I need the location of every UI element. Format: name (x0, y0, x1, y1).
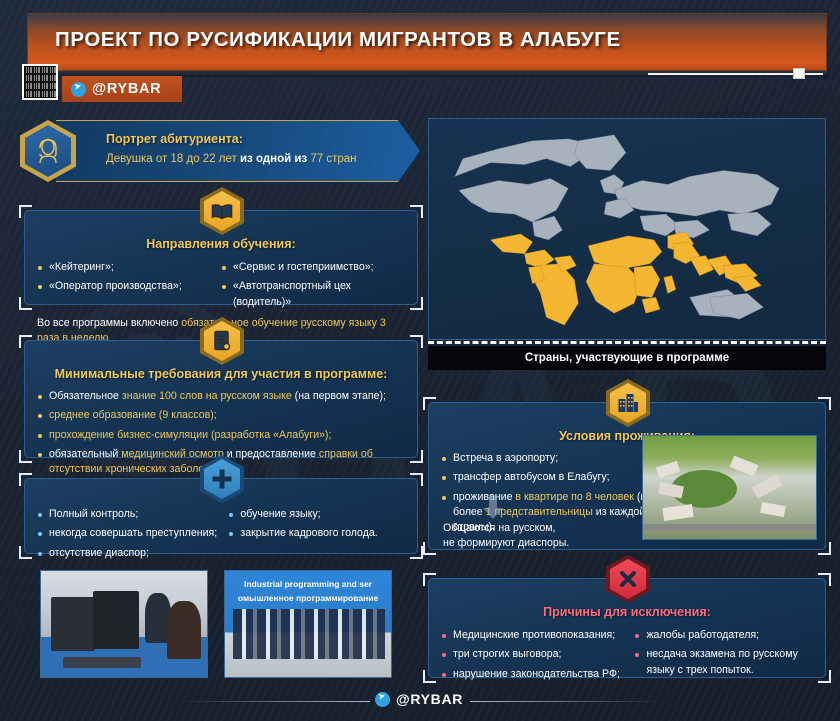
footer-brand[interactable]: @RYBAR (375, 691, 463, 707)
list-item: среднее образование (9 классов); (37, 408, 405, 423)
portrait-title: Портрет абитуриента: (106, 132, 416, 146)
brand-bar[interactable]: @RYBAR (62, 76, 182, 102)
list-item: «Автотранспортный цех (водитель)» (221, 279, 405, 310)
graduates-group-photo: Industrial programming and ser омышленно… (224, 570, 392, 678)
portrait-text: Портрет абитуриента: Девушка от 18 до 22… (106, 132, 416, 167)
requirements-title: Минимальные требования для участия в про… (25, 367, 417, 381)
qr-code-icon (22, 64, 58, 100)
requirements-panel: Минимальные требования для участия в про… (24, 340, 418, 458)
list-item: Медицинские противопоказания; (441, 628, 634, 643)
telegram-icon (71, 82, 86, 97)
open-book-icon (200, 187, 244, 235)
list-item: обучение языку; (228, 507, 405, 522)
map-divider (428, 341, 826, 344)
buildings-icon (606, 379, 650, 427)
list-item: Встреча в аэропорту; (441, 451, 667, 466)
living-footnote: Общаются на русском, не формируют диаспо… (443, 521, 569, 552)
list-item: жалобы работодателя; (634, 628, 813, 643)
list-item: три строгих выговора; (441, 647, 634, 662)
portrait-block: Портрет абитуриента: Девушка от 18 до 22… (20, 120, 420, 182)
list-item: «Кейтеринг»; (37, 260, 221, 275)
control-panel: Полный контроль; некогда совершать прест… (24, 478, 418, 554)
map-svg (429, 119, 825, 339)
red-cross-icon (606, 555, 650, 603)
infographic-root: @ BAR ПРОЕКТ ПО РУСИФИКАЦИИ МИГРАНТОВ В … (0, 0, 840, 721)
list-item: Обязательное знание 100 слов на русском … (37, 389, 405, 404)
page-title: ПРОЕКТ ПО РУСИФИКАЦИИ МИГРАНТОВ В АЛАБУГ… (55, 28, 621, 52)
list-item: прохождение бизнес-симуляции (разработка… (37, 428, 405, 443)
control-list-left: Полный контроль; некогда совершать прест… (37, 507, 228, 565)
list-item: нарушение законодательства РФ; (441, 667, 634, 682)
down-arrow-icon (481, 495, 505, 524)
list-item: некогда совершать преступления; (37, 526, 228, 541)
control-list-right: обучение языку; закрытие кадрового голод… (228, 507, 405, 565)
list-item: несдача экзамена по русскому языку с тре… (634, 647, 813, 678)
footer-rule-right (470, 701, 660, 702)
directions-list-left: «Кейтеринг»; «Оператор производства»; (37, 260, 221, 314)
classroom-computer-photo (40, 570, 208, 678)
list-item: «Оператор производства»; (37, 279, 221, 294)
aerial-dormitory-photo (642, 435, 817, 540)
directions-title: Направления обучения: (25, 237, 417, 251)
map-caption: Страны, участвующие в программе (428, 346, 826, 370)
footer-brand-label: @RYBAR (396, 691, 463, 707)
list-item: отсутствие диаспор; (37, 546, 228, 561)
list-item: трансфер автобусом в Елабугу; (441, 470, 667, 485)
world-map (428, 118, 826, 340)
list-item: «Сервис и гостеприимство»; (221, 260, 405, 275)
list-item: закрытие кадрового голода. (228, 526, 405, 541)
portrait-subtitle: Девушка от 18 до 22 лет из одной из 77 с… (106, 152, 416, 167)
exclusion-title: Причины для исключения: (429, 605, 825, 619)
photo-caption-en: Industrial programming and ser (225, 579, 391, 589)
list-item: Полный контроль; (37, 507, 228, 522)
directions-list-right: «Сервис и гостеприимство»; «Автотранспор… (221, 260, 405, 314)
photo-caption-ru: омышленное программирование (225, 593, 391, 603)
footer-rule-left (180, 701, 370, 702)
exclusion-panel: Причины для исключения: Медицинские прот… (428, 578, 826, 678)
living-panel: Условия проживания: Встреча в аэропорту;… (428, 402, 826, 550)
brand-label: @RYBAR (92, 81, 161, 97)
slider-handle-icon[interactable] (793, 68, 805, 79)
directions-panel: Направления обучения: «Кейтеринг»; «Опер… (24, 210, 418, 305)
exclusion-list-right: жалобы работодателя; несдача экзамена по… (634, 628, 813, 686)
exclusion-list-left: Медицинские противопоказания; три строги… (441, 628, 634, 686)
telegram-icon (375, 692, 390, 707)
